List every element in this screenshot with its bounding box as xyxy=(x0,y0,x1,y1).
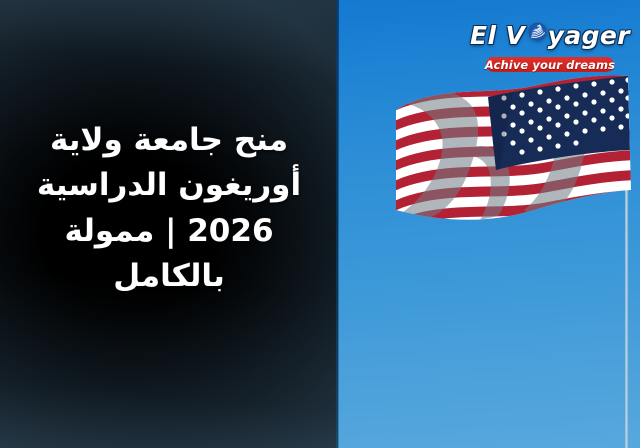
logo-wordmark: El V yager xyxy=(470,14,630,56)
poster-root: منح جامعة ولاية أوريغون الدراسية 2026 | … xyxy=(0,0,640,448)
page-title: منح جامعة ولاية أوريغون الدراسية 2026 | … xyxy=(0,118,338,299)
logo-word-after: yager xyxy=(548,21,630,50)
voyager-ship-emblem-icon xyxy=(528,18,547,52)
logo-word-before: El V xyxy=(470,21,525,50)
logo-tagline: Achive your dreams xyxy=(480,55,620,74)
brand-logo[interactable]: El V yager xyxy=(470,14,630,76)
panel-divider xyxy=(336,0,339,448)
logo-tagline-text: Achive your dreams xyxy=(485,58,615,72)
